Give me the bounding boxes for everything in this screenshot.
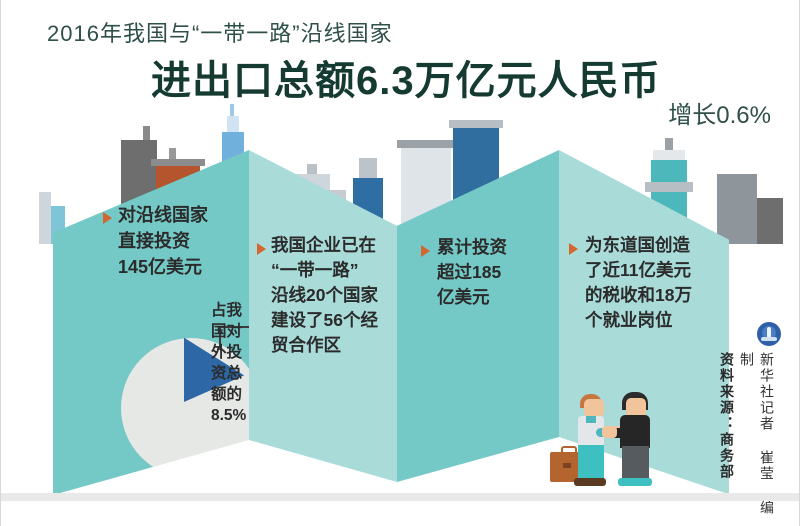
handshake-illustration	[546, 390, 666, 495]
panel-3-text: 累计投资 超过185 亿美元	[437, 235, 557, 310]
header-subtitle: 2016年我国与“一带一路”沿线国家	[47, 16, 393, 48]
panel-1-text: 对沿线国家 直接投资 145亿美元	[118, 202, 258, 280]
panel-3[interactable]: 累计投资 超过185 亿美元	[397, 150, 559, 495]
building	[230, 104, 234, 116]
businessman-right-trousers	[622, 446, 649, 482]
pie-callout-label: 占我国对 外投资总 额的8.5%	[211, 300, 249, 426]
panel-1[interactable]: 对沿线国家 直接投资 145亿美元 占我国对 外投资总 额的8.5%	[53, 150, 249, 495]
briefcase-handle	[561, 446, 577, 456]
building	[449, 120, 503, 128]
triangle-marker-icon	[569, 243, 578, 255]
briefcase-clasp	[563, 463, 571, 468]
panel-2[interactable]: 我国企业已在 “一带一路” 沿线20个国家 建设了56个经 贸合作区	[249, 150, 397, 495]
building	[227, 116, 239, 132]
businessman-right-shoe	[618, 478, 652, 486]
panel-3-face	[397, 150, 559, 495]
source-label: 资料来源：商务部	[717, 352, 737, 480]
businessman-left-trousers	[578, 445, 604, 481]
businessman-left-shoe	[574, 478, 606, 486]
triangle-marker-icon	[103, 212, 112, 224]
businessman-left-head	[584, 399, 604, 417]
building	[665, 138, 673, 150]
accordion-panels: 对沿线国家 直接投资 145亿美元 占我国对 外投资总 额的8.5% 我国企业已…	[1, 150, 800, 495]
page-title: 进出口总额6.3万亿元人民币	[151, 48, 661, 106]
triangle-marker-icon	[421, 245, 430, 257]
panel-4-text: 为东道国创造 了近11亿美元 的税收和18万 个就业岗位	[585, 233, 725, 333]
infographic-canvas: 2016年我国与“一带一路”沿线国家 进出口总额6.3万亿元人民币 增长0.6%	[0, 0, 800, 526]
businessman-left-collar	[586, 416, 596, 423]
building	[397, 140, 455, 148]
panel-2-text: 我国企业已在 “一带一路” 沿线20个国家 建设了56个经 贸合作区	[271, 233, 395, 358]
businessman-right-hand	[602, 426, 617, 438]
triangle-marker-icon	[257, 243, 266, 255]
bottom-divider	[1, 493, 800, 501]
xinhua-logo-icon	[757, 322, 781, 346]
building	[143, 126, 150, 140]
